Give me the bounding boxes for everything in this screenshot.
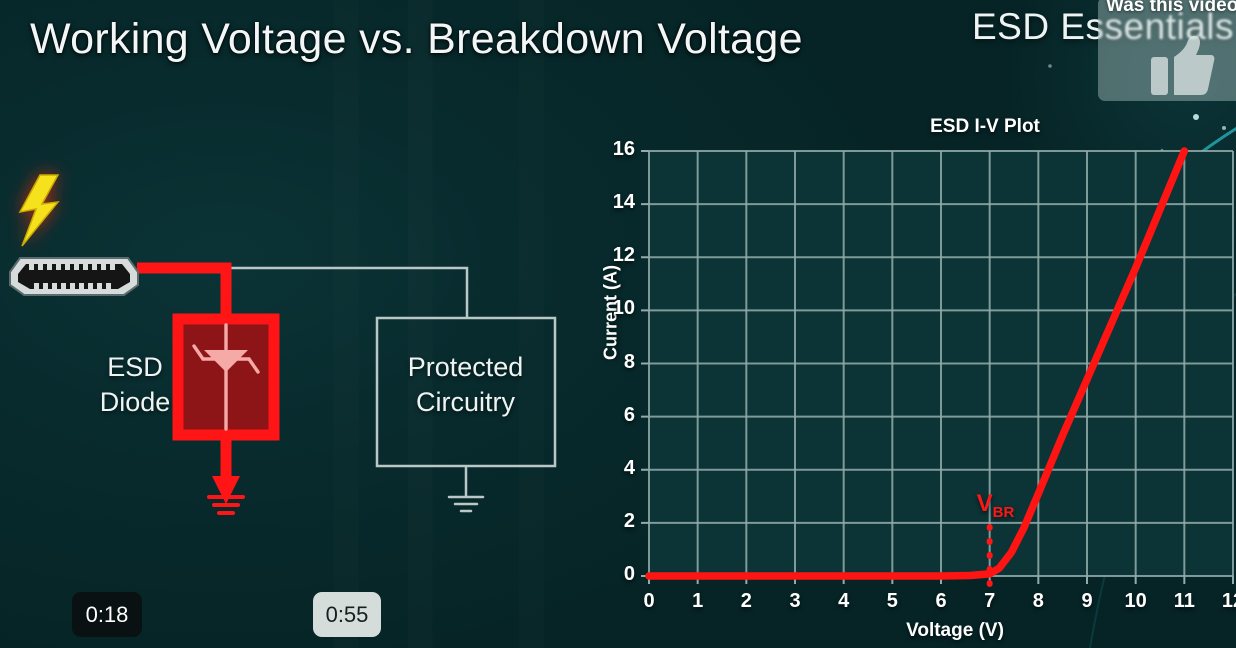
x-axis-tick-label: 5	[877, 590, 907, 613]
video-feedback-overlay[interactable]: Was this video	[1098, 0, 1236, 101]
x-axis-tick-label: 8	[1023, 590, 1053, 613]
x-axis-tick-label: 6	[926, 590, 956, 613]
vbr-main-label: V	[977, 490, 993, 517]
protected-circuitry-line2: Circuitry	[378, 385, 553, 420]
x-axis-tick-label: 3	[780, 590, 810, 613]
y-axis-tick-label: 14	[593, 191, 635, 214]
esd-diode-label-line1: ESD	[80, 350, 190, 385]
x-axis-tick-label: 4	[829, 590, 859, 613]
esd-diode-label: ESD Diode	[80, 350, 190, 419]
x-axis-tick-label: 11	[1169, 590, 1199, 613]
slide-canvas: Working Voltage vs. Breakdown Voltage ES…	[0, 0, 1236, 648]
x-axis-tick-label: 1	[683, 590, 713, 613]
chart-plot-area	[575, 112, 1236, 612]
x-axis-tick-label: 10	[1121, 590, 1151, 613]
esd-diode-label-line2: Diode	[80, 385, 190, 420]
protected-circuitry-line1: Protected	[378, 350, 553, 385]
x-axis-tick-label: 0	[634, 590, 664, 613]
y-axis-tick-label: 6	[593, 404, 635, 427]
y-axis-tick-label: 10	[593, 297, 635, 320]
chart-title: ESD I-V Plot	[575, 116, 1236, 138]
x-axis-tick-label: 2	[731, 590, 761, 613]
x-axis-tick-label: 12	[1218, 590, 1236, 613]
overlay-prompt-label: Was this video	[1106, 0, 1236, 17]
y-axis-tick-label: 0	[593, 563, 635, 586]
y-axis-tick-label: 2	[593, 510, 635, 533]
vbr-sub-label: BR	[993, 504, 1015, 521]
total-time-chip[interactable]: 0:55	[313, 592, 381, 637]
protected-circuitry-label: Protected Circuitry	[378, 350, 553, 419]
current-time-chip[interactable]: 0:18	[72, 592, 142, 637]
thumbs-up-icon[interactable]	[1150, 35, 1216, 95]
hdmi-connector-icon	[10, 258, 138, 295]
esd-protection-circuit-diagram: ESD Diode Protected Circuitry	[0, 150, 600, 550]
y-axis-tick-label: 16	[593, 138, 635, 161]
x-axis-tick-label: 9	[1072, 590, 1102, 613]
page-title: Working Voltage vs. Breakdown Voltage	[30, 15, 803, 64]
y-axis-tick-label: 4	[593, 457, 635, 480]
y-axis-tick-label: 12	[593, 244, 635, 267]
x-axis-tick-label: 7	[975, 590, 1005, 613]
esd-iv-chart: ESD I-V Plot Current (A) Voltage (V) VBR…	[575, 112, 1236, 648]
chart-x-axis-label: Voltage (V)	[855, 620, 1055, 642]
breakdown-voltage-annotation: VBR	[977, 490, 1015, 521]
y-axis-tick-label: 8	[593, 351, 635, 374]
lightning-bolt-icon	[20, 175, 58, 246]
